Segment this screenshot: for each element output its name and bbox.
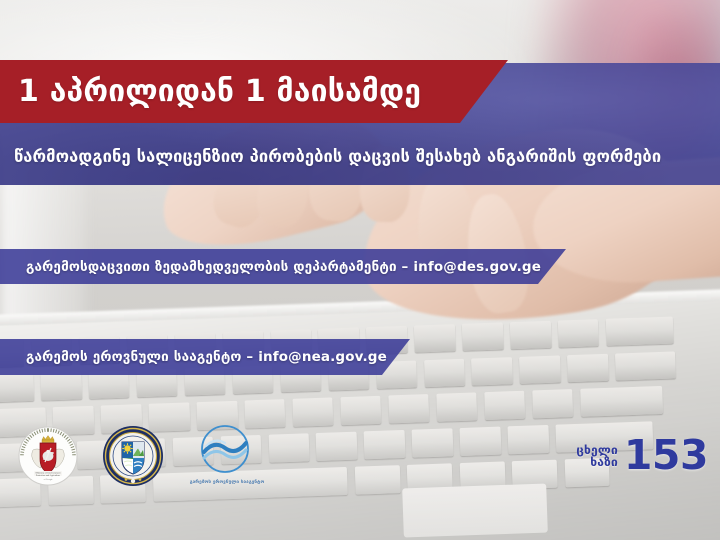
contact-org-nea: გარემოს ეროვნული სააგენტო [26, 349, 242, 365]
hotline-label-line2: ხაზი [576, 456, 618, 468]
contact-bar-nea: გარემოს ეროვნული სააგენტო – info@nea.gov… [0, 339, 410, 375]
contact-org-des: გარემოსდაცვითი ზედამხედველობის დეპარტამე… [26, 259, 397, 275]
contact-separator: – [242, 349, 259, 365]
contact-line-des: გარემოსდაცვითი ზედამხედველობის დეპარტამე… [0, 259, 541, 275]
svg-text:Ministry of Environment: Ministry of Environment [36, 471, 61, 474]
logo-row: Ministry of Environment Protection and A… [14, 420, 264, 500]
nea-caption-line2: ეროვნული სააგენტო [213, 480, 264, 485]
environmental-supervision-seal-icon [102, 425, 164, 487]
contact-separator: – [397, 259, 414, 275]
page-title: 1 აპრილიდან 1 მაისამდე [18, 60, 421, 123]
hotline-number: 153 [624, 437, 708, 475]
nea-caption-line1: გარემოს [190, 480, 211, 485]
svg-text:of Georgia: of Georgia [44, 478, 53, 481]
svg-text:Protection and Agriculture: Protection and Agriculture [36, 474, 60, 477]
contact-email-nea[interactable]: info@nea.gov.ge [258, 349, 387, 365]
subheadline-text: წარმოადგინე სალიცენზიო პირობების დაცვის … [14, 147, 661, 166]
hotline-block: ცხელი ხაზი 153 [576, 437, 708, 475]
contact-line-nea: გარემოს ეროვნული სააგენტო – info@nea.gov… [0, 349, 387, 365]
national-environmental-agency-icon [186, 422, 264, 498]
contact-email-des[interactable]: info@des.gov.ge [413, 259, 541, 275]
headline-text: 1 აპრილიდან 1 მაისამდე [18, 74, 421, 109]
contact-bar-des: გარემოსდაცვითი ზედამხედველობის დეპარტამე… [0, 249, 566, 284]
subtitle: წარმოადგინე სალიცენზიო პირობების დაცვის … [14, 128, 714, 184]
georgia-coat-of-arms-icon: Ministry of Environment Protection and A… [18, 426, 78, 486]
poster-canvas: 1 აპრილიდან 1 მაისამდე წარმოადგინე სალიც… [0, 0, 720, 540]
national-environmental-agency-caption: გარემოს ეროვნული სააგენტო [184, 480, 270, 486]
hotline-label: ცხელი ხაზი [576, 444, 618, 468]
